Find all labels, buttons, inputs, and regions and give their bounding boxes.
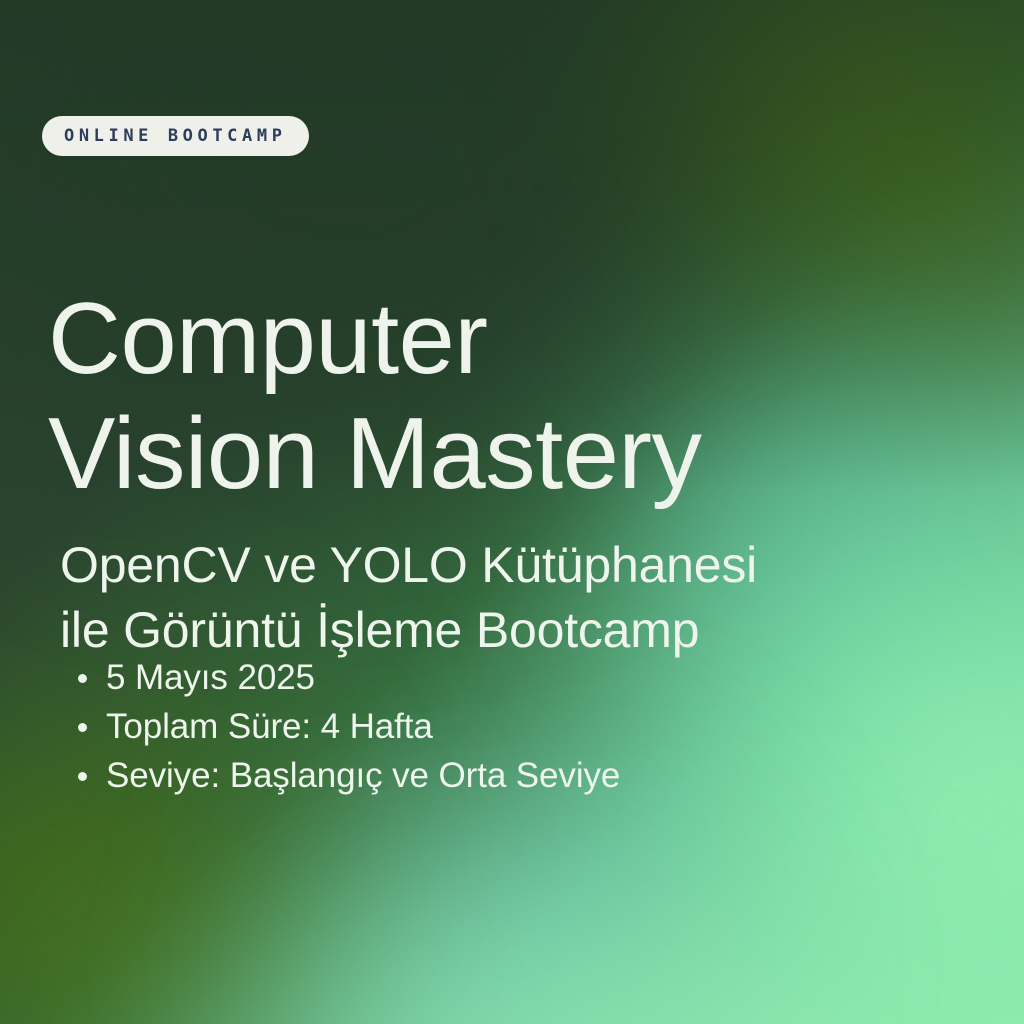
page-title-line-2: Vision Mastery <box>48 397 702 512</box>
promo-poster: ONLINE BOOTCAMP Computer Vision Mastery … <box>0 0 1024 1024</box>
poster-content: ONLINE BOOTCAMP Computer Vision Mastery … <box>0 0 1024 1024</box>
list-item: Toplam Süre: 4 Hafta <box>72 702 620 751</box>
detail-duration: Toplam Süre: 4 Hafta <box>106 707 433 746</box>
list-item: 5 Mayıs 2025 <box>72 653 620 702</box>
badge-label: ONLINE BOOTCAMP <box>64 128 287 145</box>
page-title-line-1: Computer <box>48 282 702 397</box>
detail-level: Seviye: Başlangıç ve Orta Seviye <box>106 756 620 795</box>
online-bootcamp-badge: ONLINE BOOTCAMP <box>42 116 309 156</box>
detail-date: 5 Mayıs 2025 <box>106 658 315 697</box>
course-details-list: 5 Mayıs 2025 Toplam Süre: 4 Hafta Seviye… <box>72 653 620 800</box>
list-item: Seviye: Başlangıç ve Orta Seviye <box>72 751 620 800</box>
page-subtitle: OpenCV ve YOLO Kütüphanesi ile Görüntü İ… <box>60 533 757 663</box>
page-subtitle-line-1: OpenCV ve YOLO Kütüphanesi <box>60 533 757 598</box>
page-title: Computer Vision Mastery <box>48 282 702 512</box>
